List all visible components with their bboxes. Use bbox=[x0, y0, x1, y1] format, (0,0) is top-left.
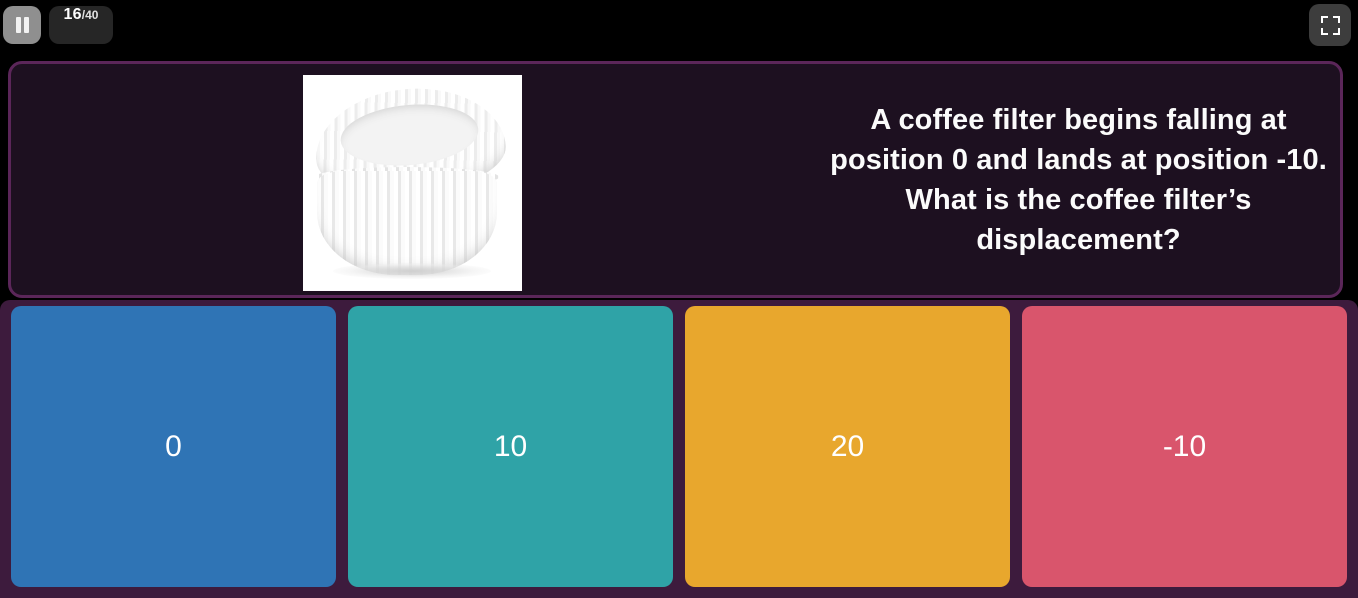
question-progress-indicator: 16 /40 bbox=[49, 6, 113, 44]
question-card: A coffee filter begins falling at positi… bbox=[8, 61, 1343, 298]
progress-current-question: 16 bbox=[64, 6, 82, 24]
answer-option-c-label: 20 bbox=[831, 430, 864, 464]
quiz-screen: 16 /40 A coffee filter begins falling at… bbox=[0, 0, 1358, 598]
question-prompt: A coffee filter begins falling at positi… bbox=[819, 64, 1338, 295]
question-media bbox=[303, 75, 522, 291]
progress-total-questions: /40 bbox=[82, 8, 99, 22]
fullscreen-icon bbox=[1321, 16, 1340, 35]
coffee-filter-upper-basin bbox=[338, 99, 481, 171]
coffee-filter-shadow bbox=[333, 263, 491, 279]
answer-option-d[interactable]: -10 bbox=[1022, 306, 1347, 587]
answer-option-d-label: -10 bbox=[1163, 430, 1206, 464]
fullscreen-button[interactable] bbox=[1309, 4, 1351, 46]
answer-option-a-label: 0 bbox=[165, 430, 182, 464]
pause-button[interactable] bbox=[3, 6, 41, 44]
answers-panel: 0 10 20 -10 bbox=[0, 300, 1358, 598]
top-bar: 16 /40 bbox=[0, 0, 1358, 51]
coffee-filter-lower bbox=[317, 171, 497, 275]
answer-option-b[interactable]: 10 bbox=[348, 306, 673, 587]
answer-option-c[interactable]: 20 bbox=[685, 306, 1010, 587]
answers-row: 0 10 20 -10 bbox=[11, 306, 1347, 587]
answer-option-b-label: 10 bbox=[494, 430, 527, 464]
coffee-filter-photo bbox=[303, 75, 522, 291]
pause-icon bbox=[16, 17, 29, 33]
answer-option-a[interactable]: 0 bbox=[11, 306, 336, 587]
